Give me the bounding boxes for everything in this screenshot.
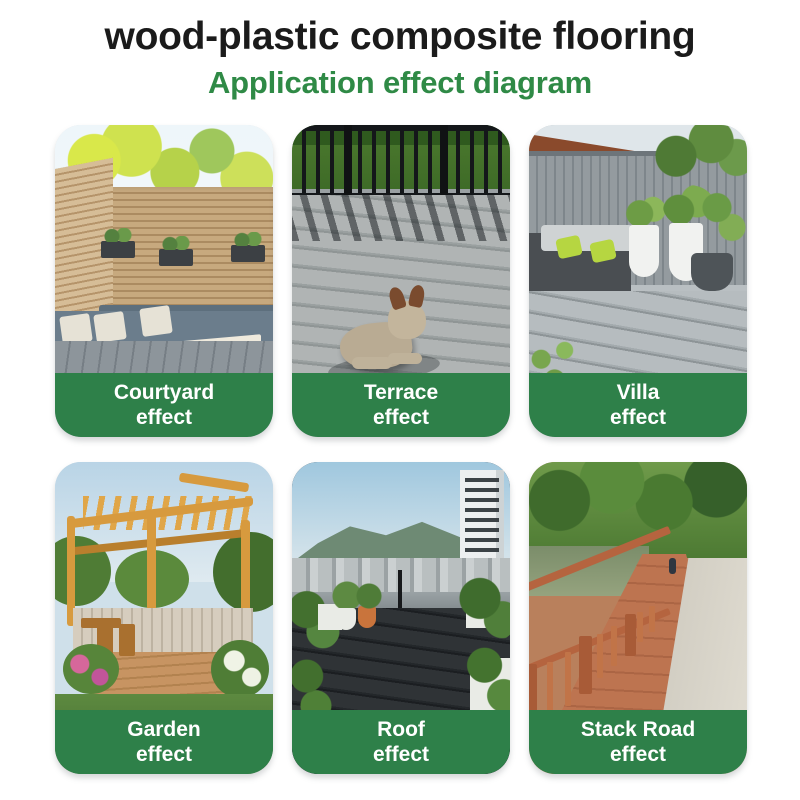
railing-top-bar xyxy=(292,125,510,131)
metal-railing xyxy=(292,125,510,199)
railing-baluster xyxy=(637,612,643,642)
card-label-line2: effect xyxy=(373,742,429,767)
card-label-villa: Villa effect xyxy=(529,373,747,437)
dog-leg xyxy=(388,353,422,364)
wall-planter xyxy=(231,245,265,262)
railing-post xyxy=(625,614,636,656)
dog-leg xyxy=(352,357,392,369)
card-label-line1: Terrace xyxy=(364,380,438,405)
card-label-line2: effect xyxy=(136,742,192,767)
card-courtyard[interactable]: Courtyard effect xyxy=(55,125,273,437)
card-label-line1: Garden xyxy=(127,717,201,742)
poster-header: wood-plastic composite flooring Applicat… xyxy=(0,0,800,102)
railing-post xyxy=(344,125,352,205)
card-label-line2: effect xyxy=(136,405,192,430)
card-villa[interactable]: Villa effect xyxy=(529,125,747,437)
page-subtitle: Application effect diagram xyxy=(0,60,800,102)
railing-post xyxy=(579,636,592,694)
flower-cluster xyxy=(211,640,269,698)
card-label-line2: effect xyxy=(610,405,666,430)
garden-chair xyxy=(119,624,135,656)
card-label-line2: effect xyxy=(373,405,429,430)
card-terrace[interactable]: Terrace effect xyxy=(292,125,510,437)
card-label-roof: Roof effect xyxy=(292,710,510,774)
card-label-line1: Villa xyxy=(617,380,660,405)
card-label-courtyard: Courtyard effect xyxy=(55,373,273,437)
sofa-cushion xyxy=(139,305,173,337)
dark-planter xyxy=(691,253,733,291)
page-title: wood-plastic composite flooring xyxy=(0,0,800,60)
railing-baluster xyxy=(611,626,617,666)
card-label-stack-road: Stack Road effect xyxy=(529,710,747,774)
effect-card-grid: Courtyard effect xyxy=(55,125,747,774)
card-label-line1: Stack Road xyxy=(581,717,695,742)
garden-table xyxy=(81,618,121,628)
poster-page: wood-plastic composite flooring Applicat… xyxy=(0,0,800,800)
card-stack-road[interactable]: Stack Road effect xyxy=(529,462,747,774)
flower-cluster xyxy=(63,644,119,694)
card-label-line2: effect xyxy=(610,742,666,767)
card-label-terrace: Terrace effect xyxy=(292,373,510,437)
sofa-cushion xyxy=(541,225,633,251)
railing-post xyxy=(440,125,448,205)
planter-foliage xyxy=(625,195,667,229)
railing-baluster xyxy=(597,634,603,678)
card-roof[interactable]: Roof effect xyxy=(292,462,510,774)
railing-baluster xyxy=(649,606,655,632)
card-garden[interactable]: Garden effect xyxy=(55,462,273,774)
wall-planter xyxy=(101,241,135,258)
white-planter xyxy=(336,608,356,630)
shrub-foliage xyxy=(697,189,747,251)
sofa-cushion xyxy=(93,311,127,343)
railing-baluster xyxy=(565,652,571,706)
railing-shadow xyxy=(292,195,510,241)
card-label-line1: Courtyard xyxy=(114,380,214,405)
card-label-line1: Roof xyxy=(377,717,425,742)
wall-planter xyxy=(159,249,193,266)
card-label-garden: Garden effect xyxy=(55,710,273,774)
white-planter xyxy=(629,225,659,277)
tree-foliage xyxy=(643,125,747,181)
tower-windows xyxy=(465,478,499,566)
roof-planting xyxy=(356,582,382,610)
